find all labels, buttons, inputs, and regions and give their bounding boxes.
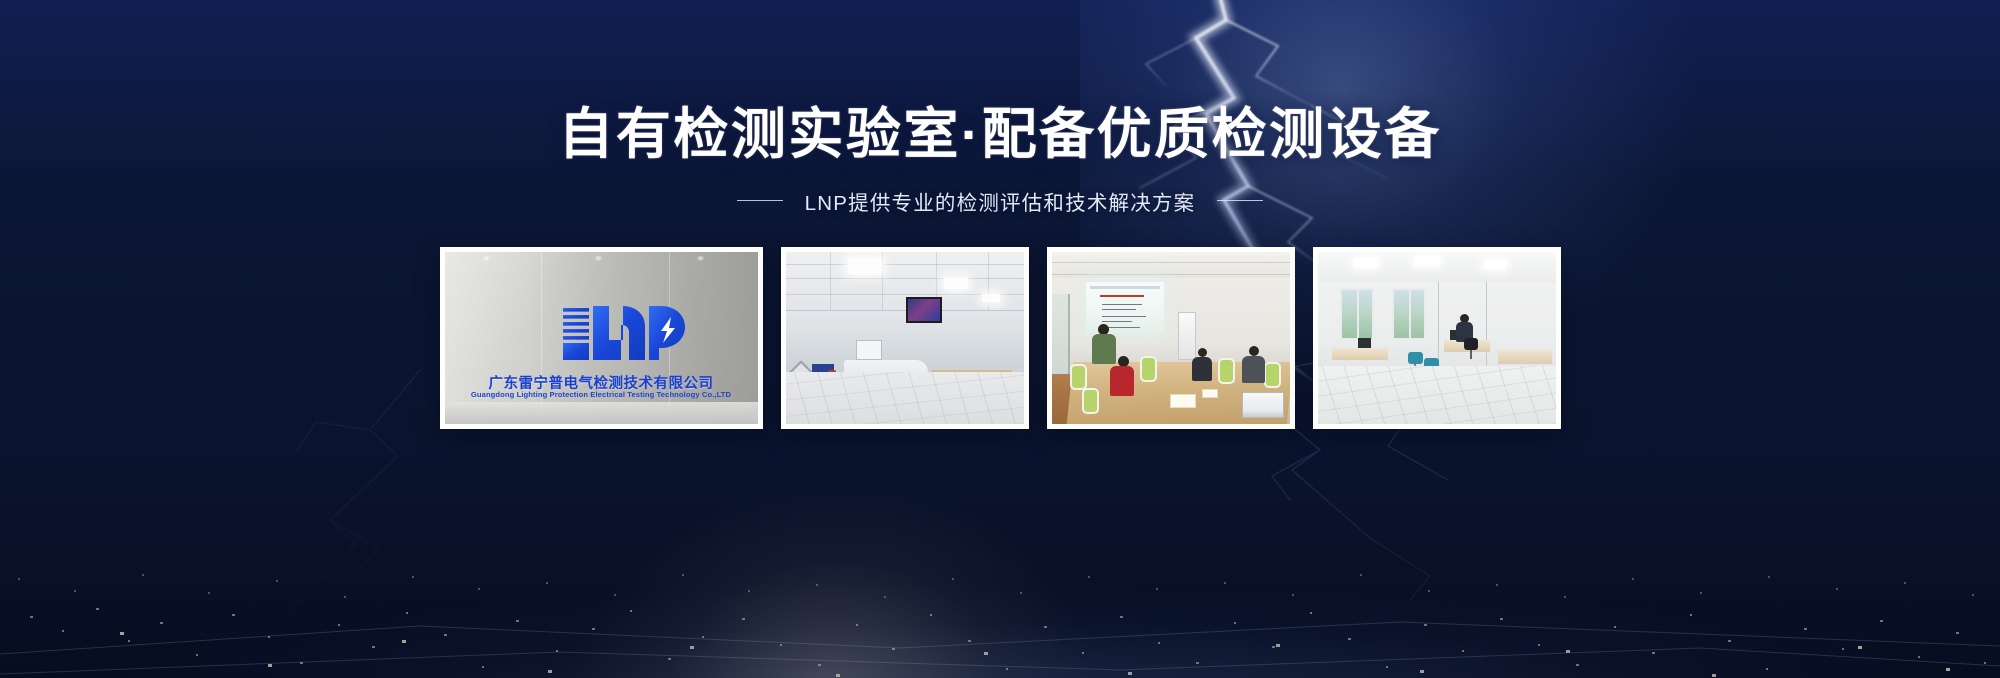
ceiling-light-panel (944, 278, 968, 289)
hero-text-block: 自有检测实验室·配备优质检测设备 LNP提供专业的检测评估和技术解决方案 (0, 104, 2000, 216)
page-title: 自有检测实验室·配备优质检测设备 (0, 104, 2000, 165)
ceiling-light-dot (697, 256, 704, 261)
ceiling-light-panel (982, 294, 1000, 302)
gallery-card-testing-laboratory[interactable] (781, 247, 1029, 429)
page-subtitle-row: LNP提供专业的检测评估和技术解决方案 (0, 186, 2000, 216)
gallery-card-training-meeting[interactable] (1047, 247, 1295, 429)
meeting-chair (1140, 356, 1157, 382)
photo-training-meeting (1052, 252, 1290, 424)
laptop (1242, 392, 1284, 418)
projection-screen (1086, 282, 1164, 334)
documents (1202, 389, 1218, 398)
rule-left-decoration (737, 200, 783, 202)
photo-gallery: 广东雷宁普电气检测技术有限公司 Guangdong Lighting Prote… (0, 247, 2000, 429)
hero-banner: 自有检测实验室·配备优质检测设备 LNP提供专业的检测评估和技术解决方案 (0, 0, 2000, 678)
ceiling-light-panel (1414, 256, 1440, 266)
office-chair (1464, 338, 1478, 358)
meeting-chair (1070, 364, 1087, 390)
documents (1170, 394, 1196, 408)
office-desk (1332, 348, 1388, 360)
meeting-chair (1264, 362, 1281, 388)
air-conditioner (1178, 312, 1196, 360)
office-window (1392, 288, 1426, 340)
photo-company-signage: 广东雷宁普电气检测技术有限公司 Guangdong Lighting Prote… (445, 252, 758, 424)
ceiling-light-dot (483, 256, 490, 261)
office-window (1340, 288, 1374, 340)
tiled-floor (786, 372, 1024, 424)
page-subtitle: LNP提供专业的检测评估和技术解决方案 (805, 186, 1196, 216)
company-name-en: Guangdong Lighting Protection Electrical… (445, 390, 758, 399)
city-haze (0, 508, 2000, 678)
ceiling-light-panel (1354, 258, 1378, 268)
ceiling-light-panel (1484, 260, 1506, 269)
ceiling-light-panel (848, 258, 882, 274)
meeting-chair (1218, 358, 1235, 384)
tiled-floor (1318, 366, 1556, 424)
wall-monitor (906, 297, 942, 323)
gallery-card-company-signage[interactable]: 广东雷宁普电气检测技术有限公司 Guangdong Lighting Prote… (440, 247, 763, 429)
photo-office-area (1318, 252, 1556, 424)
reception-counter (1498, 350, 1552, 364)
floor-strip (445, 402, 758, 424)
ceiling-light-dot (595, 256, 602, 261)
desktop-computer (1358, 338, 1371, 348)
console-monitor (856, 340, 882, 360)
photo-testing-laboratory (786, 252, 1024, 424)
lnp-logo-icon (561, 302, 687, 364)
rule-right-decoration (1217, 200, 1263, 202)
gallery-card-office-area[interactable] (1313, 247, 1561, 429)
meeting-chair (1082, 388, 1099, 414)
